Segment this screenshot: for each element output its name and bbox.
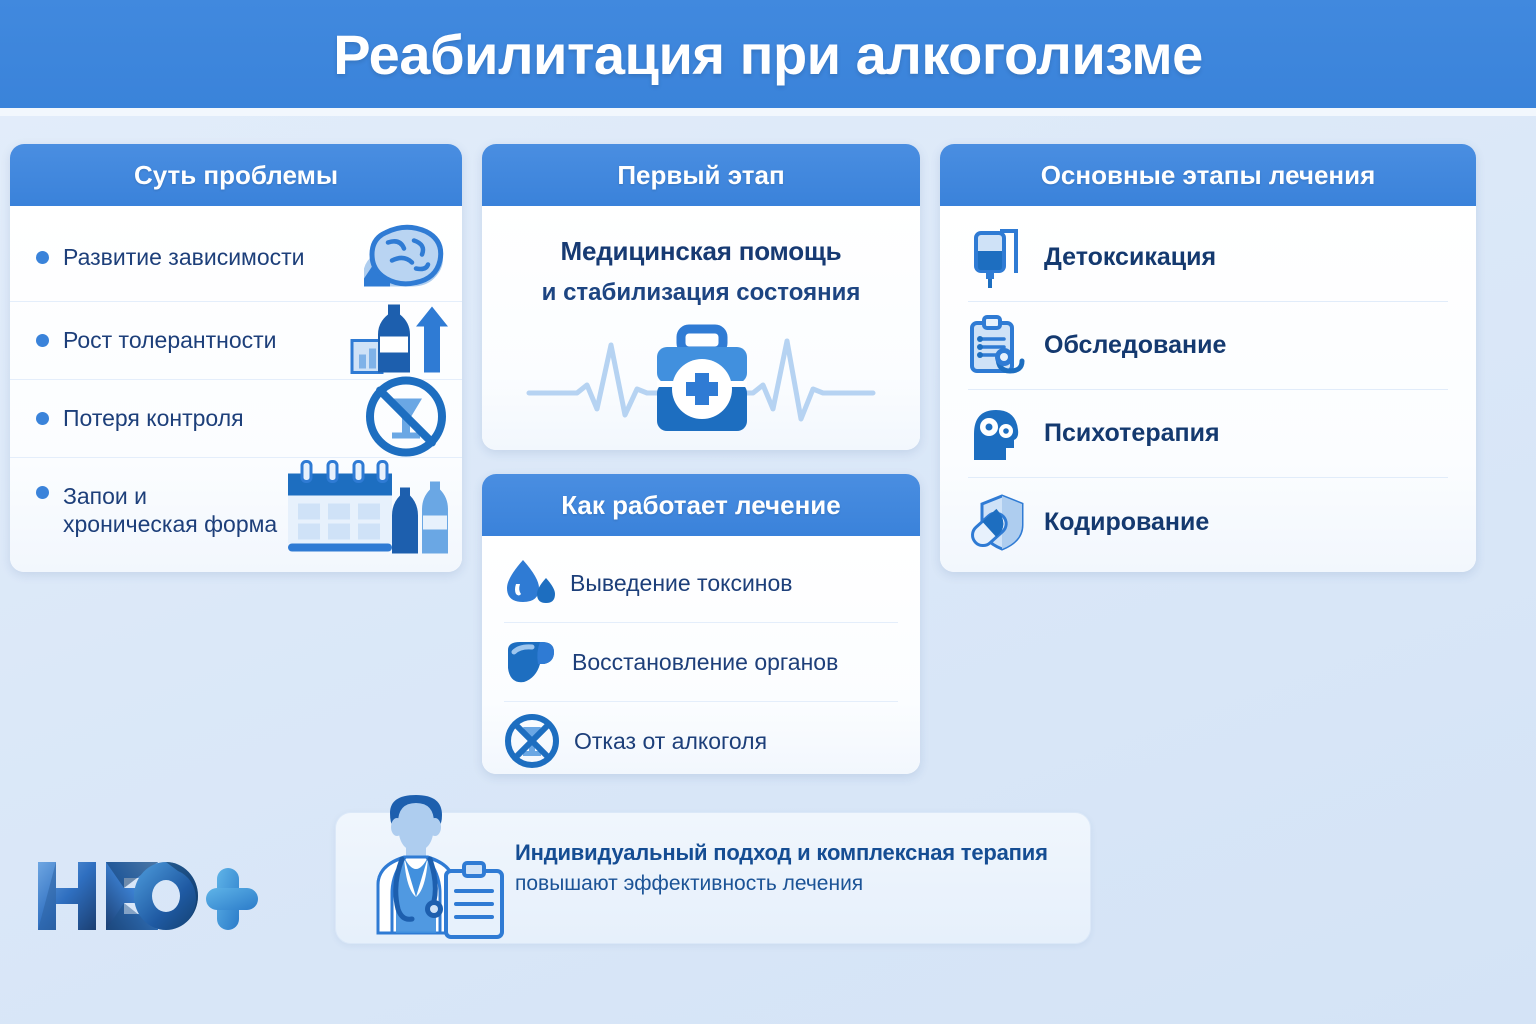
problem-row-3[interactable]: Потеря контроля	[10, 380, 462, 458]
page-title: Реабилитация при алкоголизме	[333, 22, 1203, 87]
card-first-stage-body: Медицинская помощь и стабилизация состоя…	[482, 206, 920, 450]
calendar-bottles-icon	[282, 458, 452, 563]
how-label-1: Выведение токсинов	[570, 570, 793, 597]
card-problem-title: Суть проблемы	[134, 160, 338, 191]
problem-label-4: Запои и хроническая форма	[63, 482, 277, 538]
stage-label-1: Детоксикация	[1044, 243, 1216, 272]
stage-label-4: Кодирование	[1044, 508, 1209, 537]
brain-head-icon	[356, 220, 452, 295]
card-first-stage-title: Первый этап	[617, 160, 784, 191]
header-underline	[0, 108, 1536, 116]
problem-label-1: Развитие зависимости	[63, 243, 305, 271]
stage-label-3: Психотерапия	[1044, 419, 1220, 448]
stage-row-3[interactable]: Психотерапия	[968, 390, 1448, 478]
summary-banner-text: Индивидуальный подход и комплексная тера…	[515, 840, 1075, 896]
card-how-treatment-works: Как работает лечение Выведение токсинов	[482, 474, 920, 774]
stage-row-2[interactable]: Обследование	[968, 302, 1448, 390]
brand-logo	[34, 846, 262, 942]
pill-shield-icon	[968, 493, 1026, 551]
no-alcohol-glass-icon	[360, 372, 452, 465]
bullet-icon	[36, 334, 49, 347]
page-header: Реабилитация при алкоголизме	[0, 0, 1536, 108]
bullet-icon	[36, 251, 49, 264]
how-row-3[interactable]: Отказ от алкоголя	[504, 702, 898, 774]
no-alcohol-icon	[504, 713, 560, 769]
water-drop-icon	[504, 558, 556, 608]
card-first-stage: Первый этап Медицинская помощь и стабили…	[482, 144, 920, 450]
card-how-body: Выведение токсинов Восстановление органо…	[482, 536, 920, 774]
problem-row-4[interactable]: Запои и хроническая форма	[10, 458, 462, 562]
problem-label-2: Рост толерантности	[63, 326, 277, 354]
card-problem-body: Развитие зависимости Рост толерантности	[10, 206, 462, 572]
first-stage-text: Медицинская помощь и стабилизация состоя…	[482, 236, 920, 307]
stage-row-1[interactable]: Детоксикация	[968, 214, 1448, 302]
card-main-stages-header: Основные этапы лечения	[940, 144, 1476, 206]
doctor-clipboard-icon	[348, 793, 516, 945]
how-row-2[interactable]: Восстановление органов	[504, 623, 898, 702]
stage-row-4[interactable]: Кодирование	[968, 478, 1448, 566]
how-label-2: Восстановление органов	[572, 649, 838, 676]
card-problem: Суть проблемы Развитие зависимости Рост …	[10, 144, 462, 572]
clipboard-stethoscope-icon	[968, 315, 1026, 377]
how-row-1[interactable]: Выведение токсинов	[504, 544, 898, 623]
card-how-header: Как работает лечение	[482, 474, 920, 536]
problem-label-3: Потеря контроля	[63, 404, 244, 432]
iv-drip-icon	[968, 227, 1026, 289]
card-how-title: Как работает лечение	[561, 490, 840, 521]
liver-icon	[504, 638, 558, 686]
problem-row-1[interactable]: Развитие зависимости	[10, 214, 462, 302]
head-gears-icon	[968, 404, 1026, 464]
stage-label-2: Обследование	[1044, 331, 1226, 360]
first-stage-line2: и стабилизация состояния	[482, 279, 920, 307]
bullet-icon	[36, 412, 49, 425]
first-aid-kit-ecg-icon	[482, 323, 920, 445]
bottle-arrow-up-icon	[348, 300, 452, 381]
card-main-stages-body: Детоксикация Обследование	[940, 206, 1476, 572]
bullet-icon	[36, 486, 49, 499]
card-first-stage-header: Первый этап	[482, 144, 920, 206]
card-main-stages-title: Основные этапы лечения	[1041, 160, 1376, 191]
summary-line2: повышают эффективность лечения	[515, 872, 1075, 896]
first-stage-line1: Медицинская помощь	[482, 236, 920, 267]
summary-line1: Индивидуальный подход и комплексная тера…	[515, 840, 1075, 866]
problem-row-2[interactable]: Рост толерантности	[10, 302, 462, 380]
how-label-3: Отказ от алкоголя	[574, 728, 767, 755]
card-problem-header: Суть проблемы	[10, 144, 462, 206]
card-main-stages: Основные этапы лечения Детоксикация	[940, 144, 1476, 572]
